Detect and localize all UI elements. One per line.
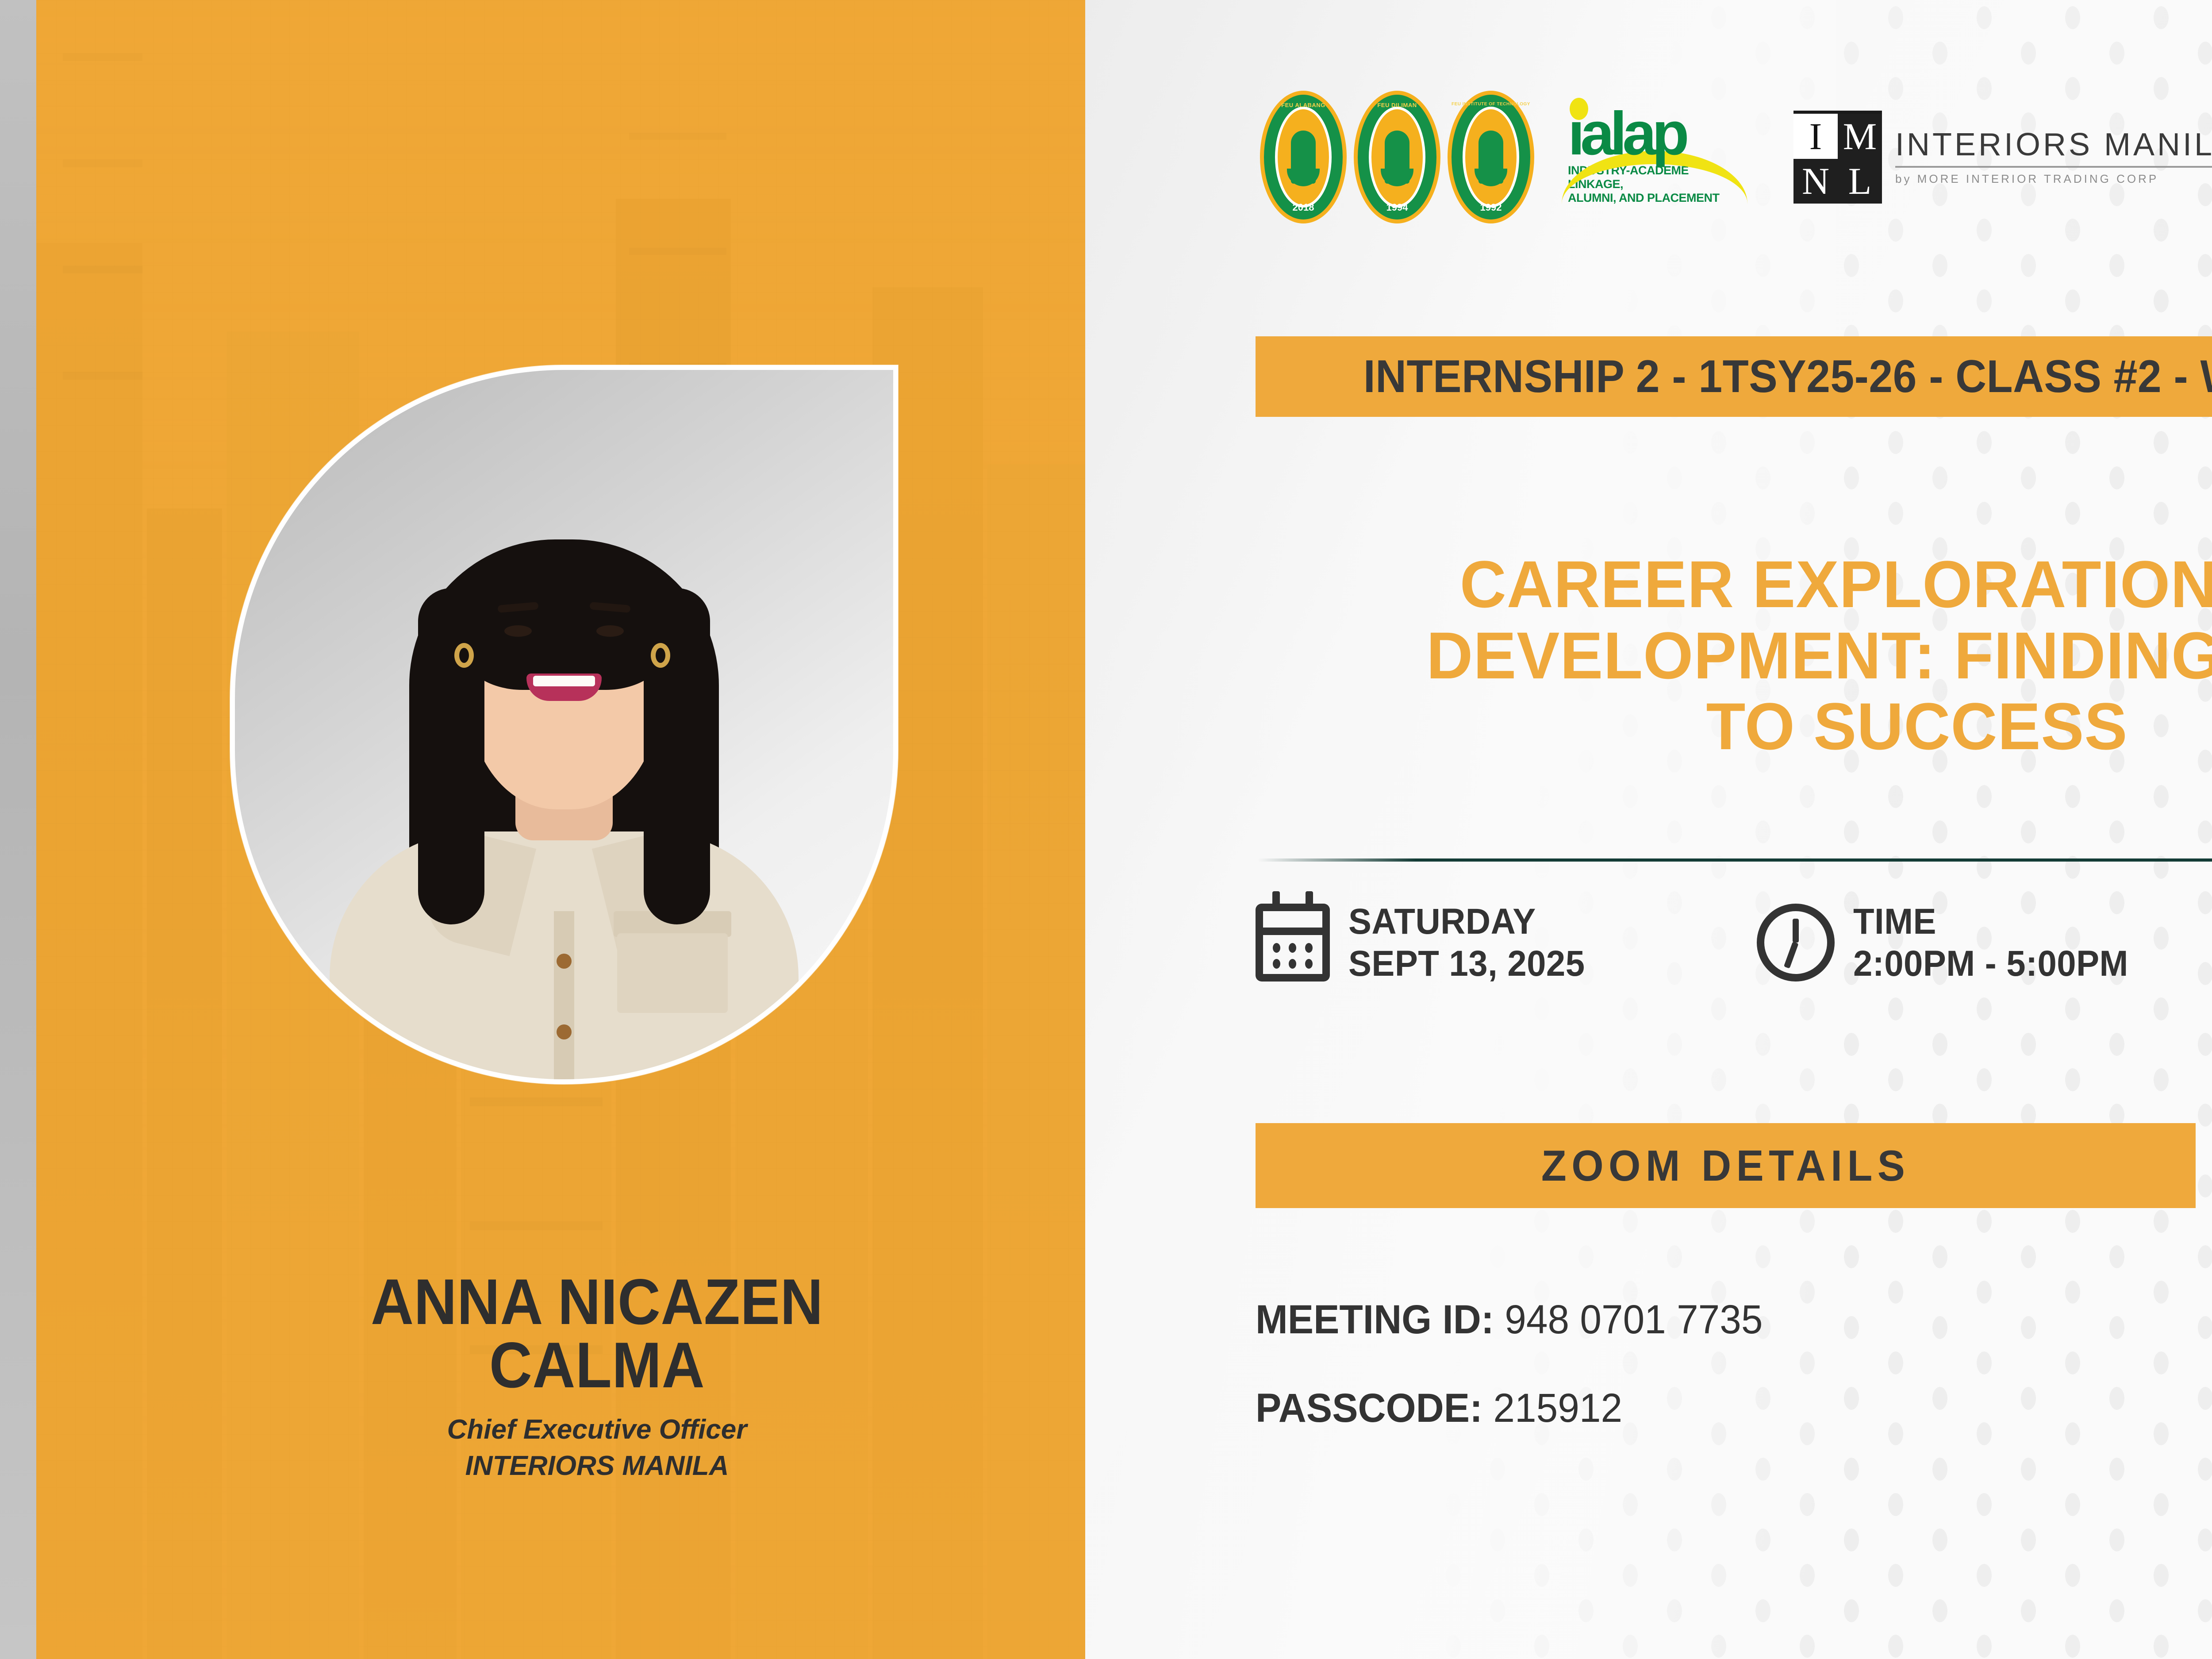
meeting-id-label: MEETING ID: [1256,1297,1494,1342]
passcode-row: PASSCODE: 215912 [1256,1385,1622,1432]
imnl-monogram-icon: I M N L [1793,111,1882,204]
ialap-dot-icon [1570,98,1588,120]
monogram-letter-i: I [1793,114,1838,159]
monogram-letter-n: N [1793,159,1838,204]
passcode-value: 215912 [1493,1386,1622,1431]
event-time-label: TIME [1853,901,2128,943]
monogram-letter-m: M [1838,114,1882,159]
left-edge-strip [0,0,36,1659]
title-line1: CAREER EXPLORATION AND [1269,549,2212,620]
seal-name-alabang: FEU ALABANG [1264,102,1343,108]
interiors-manila-name: INTERIORS MANILA [1895,129,2212,161]
seal-name-tech: FEU INSTITUTE OF TECHNOLOGY [1452,102,1530,107]
course-ribbon: INTERNSHIP 2 - 1TSY25-26 - CLASS #2 - WE… [1256,336,2212,417]
event-date-day: SATURDAY [1348,901,1585,943]
speaker-panel: ANNA NICAZEN CALMA Chief Executive Offic… [36,0,1085,1659]
course-ribbon-text: INTERNSHIP 2 - 1TSY25-26 - CLASS #2 - WE… [1363,350,2212,403]
interiors-manila-text: INTERIORS MANILA by MORE INTERIOR TRADIN… [1895,129,2212,186]
feu-tech-seal-icon: FEU INSTITUTE OF TECHNOLOGY 1992 [1448,91,1534,223]
logo-strip: FEU ALABANG 2018 FEU DILIMAN 1994 FEU IN… [1260,91,2212,223]
seal-year-diliman: 1994 [1358,202,1436,213]
event-date-value: SEPT 13, 2025 [1348,943,1585,985]
calendar-icon [1256,904,1330,982]
interiors-manila-rule [1895,166,2212,168]
monogram-letter-l: L [1838,159,1882,204]
speaker-info: ANNA NICAZEN CALMA Chief Executive Offic… [73,1270,1085,1484]
event-time-value: 2:00PM - 5:00PM [1853,943,2128,985]
title-line2: DEVELOPMENT: FINDING PATH [1269,620,2212,691]
speaker-photo [235,370,893,1079]
seal-year-alabang: 2018 [1264,202,1343,213]
passcode-label: PASSCODE: [1256,1386,1482,1431]
seal-year-tech: 1992 [1452,202,1530,213]
event-date-block: SATURDAY SEPT 13, 2025 [1256,901,1598,985]
title-divider [1258,858,2212,862]
feu-diliman-seal-icon: FEU DILIMAN 1994 [1354,91,1440,223]
webinar-title: CAREER EXPLORATION AND DEVELOPMENT: FIND… [1269,549,2212,762]
content-column: FEU ALABANG 2018 FEU DILIMAN 1994 FEU IN… [1085,0,2212,1659]
seal-name-diliman: FEU DILIMAN [1358,102,1436,108]
event-meta-row: SATURDAY SEPT 13, 2025 TIME 2:00PM - 5:0… [1256,901,2212,985]
speaker-role: Chief Executive Officer [73,1412,1085,1448]
interiors-manila-logo: I M N L INTERIORS MANILA by MORE INTERIO… [1793,111,2212,204]
speaker-name-line2: CALMA [115,1333,1079,1397]
zoom-details-heading: ZOOM DETAILS [1541,1141,1910,1191]
feu-alabang-seal-icon: FEU ALABANG 2018 [1260,91,1347,223]
meeting-id-row: MEETING ID: 948 0701 7735 [1256,1297,1763,1343]
event-time-block: TIME 2:00PM - 5:00PM [1757,901,2143,985]
speaker-name-line1: ANNA NICAZEN [115,1270,1079,1333]
meeting-id-value: 948 0701 7735 [1505,1297,1763,1342]
clock-icon [1757,904,1835,982]
speaker-organization: INTERIORS MANILA [73,1448,1085,1484]
zoom-details-header: ZOOM DETAILS [1256,1123,2196,1208]
webinar-poster: ANNA NICAZEN CALMA Chief Executive Offic… [0,0,2212,1659]
ialap-logo: ialap INDUSTRY-ACADEME LINKAGE, ALUMNI, … [1568,109,1745,205]
title-line3: TO SUCCESS [1269,691,2212,762]
ialap-wordmark: ialap [1568,109,1745,158]
speaker-photo-frame [230,365,898,1084]
interiors-manila-tagline: by MORE INTERIOR TRADING CORP [1895,172,2212,186]
